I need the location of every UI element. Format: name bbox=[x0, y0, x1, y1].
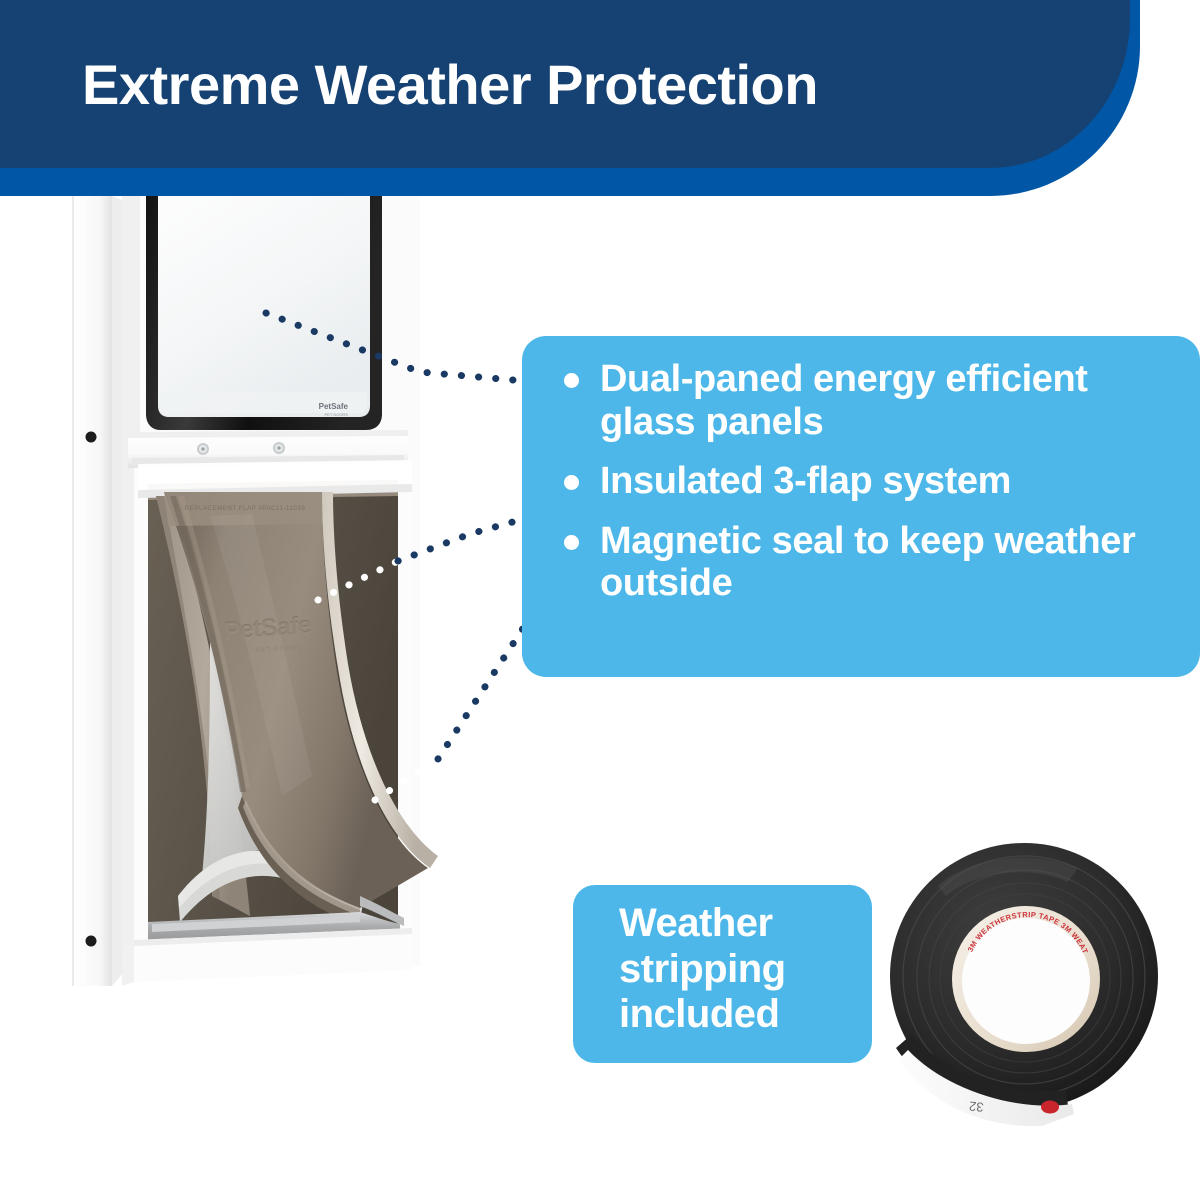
door-frame-left-column bbox=[72, 196, 122, 986]
backing-label: 32 bbox=[968, 1099, 984, 1115]
mounting-hole-bottom bbox=[86, 936, 97, 947]
weather-stripping-callout-box: Weather stripping included bbox=[573, 885, 872, 1063]
flap-replacement-text: REPLACEMENT FLAP #PAC11-11039 bbox=[185, 505, 306, 512]
infographic-canvas: PetSafe PET DOORS bbox=[0, 0, 1200, 1200]
stripping-line-1: Weather bbox=[619, 901, 872, 947]
feature-item-glass: Dual-paned energy efficient glass panels bbox=[556, 358, 1178, 443]
weather-stripping-label: Weather stripping included bbox=[573, 885, 872, 1038]
mounting-hole-top bbox=[86, 432, 97, 443]
features-callout-box: Dual-paned energy efficient glass panels… bbox=[522, 336, 1200, 677]
stripping-line-2: stripping bbox=[619, 947, 872, 993]
glass-panel-dual-paned: PetSafe PET DOORS bbox=[146, 196, 382, 430]
header-banner: Extreme Weather Protection bbox=[0, 0, 1200, 200]
page-title: Extreme Weather Protection bbox=[82, 52, 818, 117]
weather-stripping-roll-image: 3M WEATHERSTRIP TAPE 3M WEATHERSTRIP 32 bbox=[888, 838, 1160, 1128]
glass-petsafe-logo: PetSafe bbox=[319, 402, 349, 411]
svg-text:PET DOORS: PET DOORS bbox=[325, 412, 349, 417]
crossbar-screw-right bbox=[273, 442, 285, 454]
crossbar-screw-left bbox=[197, 443, 209, 455]
feature-item-magnetic-seal: Magnetic seal to keep weather outside bbox=[556, 520, 1178, 605]
red-dot-sticker bbox=[1041, 1101, 1059, 1114]
features-list: Dual-paned energy efficient glass panels… bbox=[522, 336, 1200, 605]
stripping-line-3: included bbox=[619, 992, 872, 1038]
feature-item-flap: Insulated 3-flap system bbox=[556, 460, 1178, 503]
pet-door-product-image: PetSafe PET DOORS bbox=[60, 196, 460, 986]
